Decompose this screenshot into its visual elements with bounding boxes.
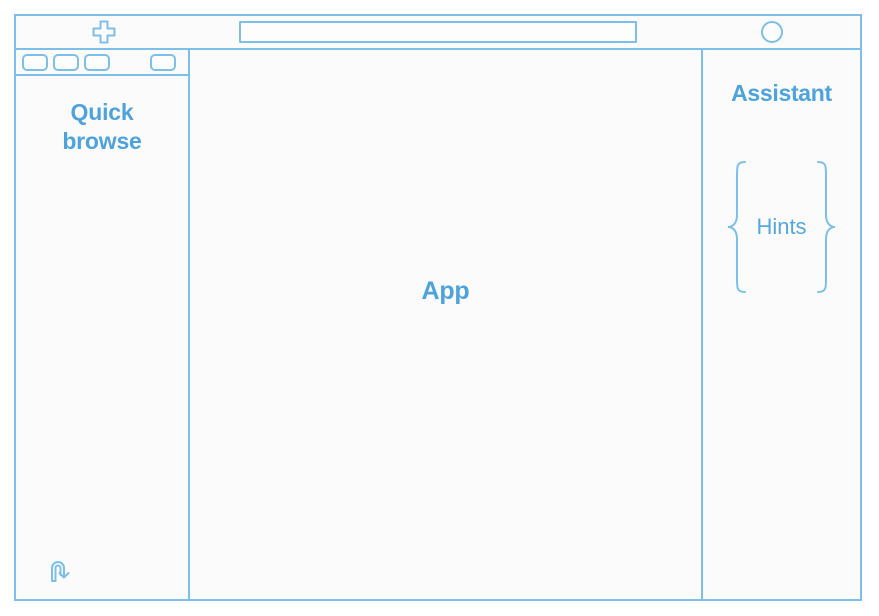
sidebar-panel: Quick browse	[16, 50, 190, 599]
sidebar-tab-chip-3[interactable]	[84, 54, 110, 71]
u-turn-arrow-icon[interactable]	[44, 556, 74, 591]
sidebar-tab-chip-2[interactable]	[53, 54, 79, 71]
main-app-panel: App	[190, 50, 703, 599]
app-label: App	[422, 277, 470, 306]
top-bar-left-section	[16, 16, 192, 48]
top-bar-right-section	[684, 16, 860, 48]
top-bar	[16, 16, 860, 50]
left-curly-brace-icon	[724, 159, 750, 295]
hints-label: Hints	[750, 214, 812, 240]
assistant-title: Assistant	[731, 80, 832, 107]
plus-icon[interactable]	[91, 19, 117, 45]
quick-browse-title: Quick browse	[16, 98, 188, 156]
sidebar-tab-chip-1[interactable]	[22, 54, 48, 71]
sidebar-footer	[16, 547, 188, 599]
wireframe-frame: Quick browse App Assis	[14, 14, 862, 601]
search-input[interactable]	[239, 21, 637, 43]
profile-circle-icon[interactable]	[759, 19, 785, 45]
sidebar-tab-strip	[16, 50, 188, 76]
right-curly-brace-icon	[813, 159, 839, 295]
sidebar-tab-chip-overflow[interactable]	[150, 54, 176, 71]
assistant-panel: Assistant Hints	[703, 50, 860, 599]
body-area: Quick browse App Assis	[16, 50, 860, 599]
top-bar-center-section	[192, 16, 684, 48]
hints-block: Hints	[724, 159, 838, 295]
